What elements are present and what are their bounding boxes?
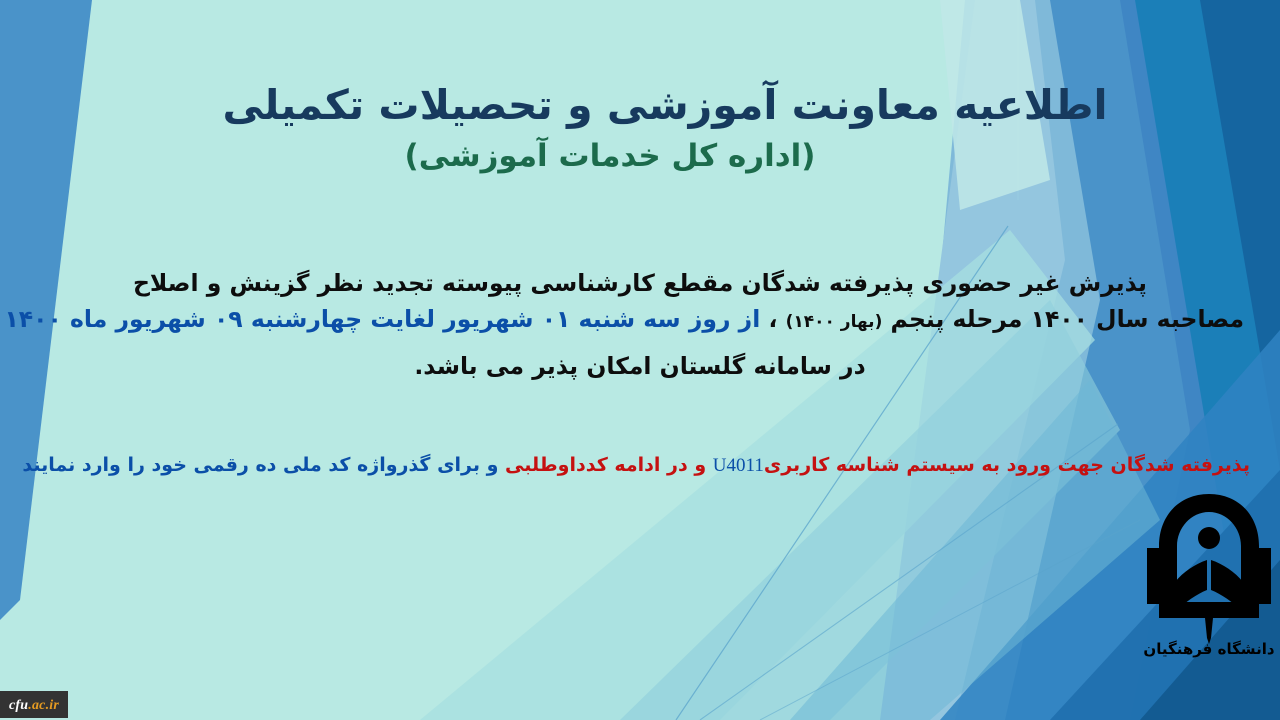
title-block: اطلاعیه معاونت آموزشی و تحصیلات تکمیلی (… [0,78,1280,174]
emblem-caption: دانشگاه فرهنگیان [1143,640,1274,658]
notice-part-2: و در ادامه کدداوطلبی [505,454,706,476]
university-logo: دانشگاه فرهنگیان [1143,486,1275,662]
body-line-2-text: مصاحبه سال ۱۴۰۰ مرحله پنجم [891,305,1244,333]
body-line-2-comma: ، [768,305,777,333]
emblem-head-dot [1198,527,1220,549]
notice-line: پذیرفته شدگان جهت ورود به سیستم شناسه کا… [30,452,1250,480]
date-range-highlight: از روز سه شنبه ۰۱ شهریور لغایت چهارشنبه … [4,305,760,333]
emblem-book-base [1161,602,1257,618]
page-title: اطلاعیه معاونت آموزشی و تحصیلات تکمیلی [0,78,1280,132]
watermark-tld: .ac.ir [28,698,59,713]
emblem-arch [1159,494,1259,618]
watermark-name: cfu [9,698,28,713]
announcement-body: پذیرش غیر حضوری پذیرفته شدگان مقطع کارشن… [36,266,1244,383]
site-watermark: cfu.ac.ir [0,691,68,718]
body-line-1: پذیرش غیر حضوری پذیرفته شدگان مقطع کارشن… [36,266,1244,300]
body-line-3: در سامانه گلستان امکان پذیر می باشد. [36,349,1244,383]
notice-part-3: و برای گذرواژه کد ملی ده رقمی خود را وار… [22,454,498,476]
page-subtitle: (اداره کل خدمات آموزشی) [0,138,1280,174]
user-id-value: U4011 [713,455,764,476]
slide-content: اطلاعیه معاونت آموزشی و تحصیلات تکمیلی (… [0,0,1280,720]
body-line-2-parenthetical: (بهار ۱۴۰۰) [786,312,883,332]
notice-part-1: پذیرفته شدگان جهت ورود به سیستم شناسه کا… [764,454,1250,476]
farhangian-university-emblem-icon: دانشگاه فرهنگیان [1143,486,1275,662]
body-line-2: مصاحبه سال ۱۴۰۰ مرحله پنجم (بهار ۱۴۰۰) ،… [36,302,1244,336]
login-notice: پذیرفته شدگان جهت ورود به سیستم شناسه کا… [30,452,1250,480]
announcement-slide: اطلاعیه معاونت آموزشی و تحصیلات تکمیلی (… [0,0,1280,720]
